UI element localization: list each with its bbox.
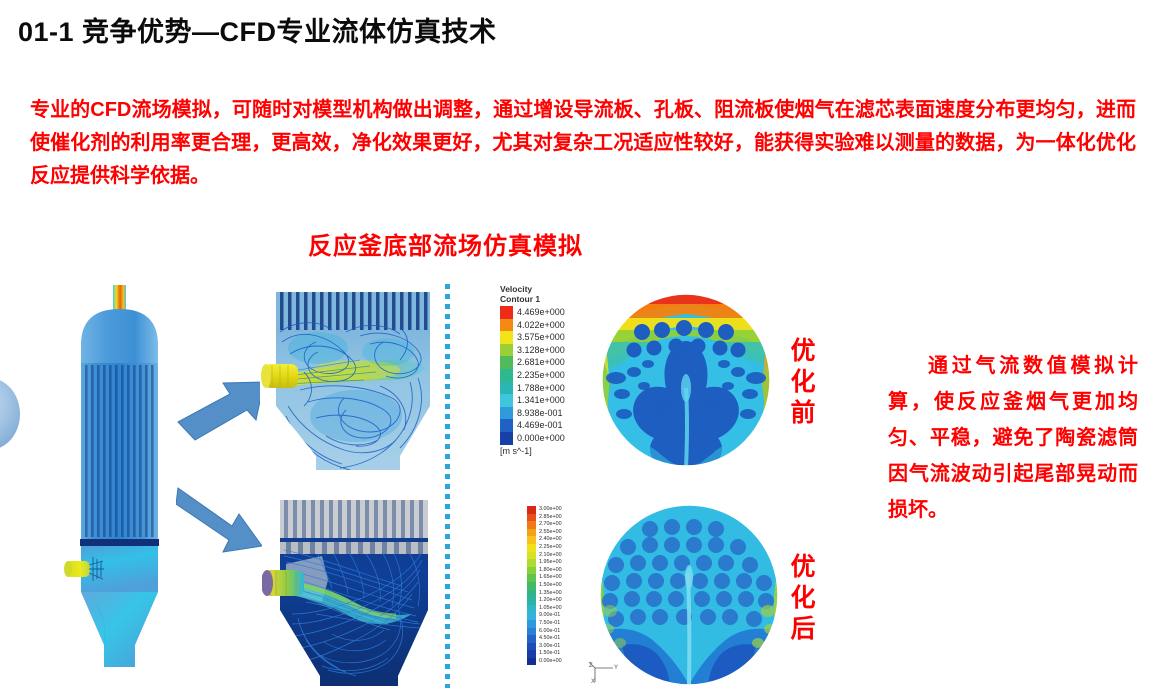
legend-value: 2.55e+00 bbox=[539, 529, 562, 537]
legend-value: 9.00e-01 bbox=[539, 612, 562, 620]
legend-swatch bbox=[500, 419, 513, 432]
legend-swatch bbox=[527, 544, 536, 552]
legend-swatch bbox=[527, 529, 536, 537]
legend-swatch bbox=[527, 582, 536, 590]
cross-section-contour-before bbox=[600, 292, 772, 468]
decorative-ellipse bbox=[0, 378, 20, 450]
legend-swatch bbox=[527, 658, 536, 666]
legend-value: 1.65e+00 bbox=[539, 574, 562, 582]
legend-value: 1.95e+00 bbox=[539, 559, 562, 567]
svg-text:X: X bbox=[591, 679, 595, 684]
legend-swatch bbox=[527, 612, 536, 620]
svg-text:Z: Z bbox=[589, 663, 593, 669]
legend-swatch bbox=[527, 536, 536, 544]
legend-value: 1.05e+00 bbox=[539, 605, 562, 613]
legend-swatch bbox=[500, 331, 513, 344]
legend-swatch bbox=[527, 650, 536, 658]
legend-value: 4.469e+000 bbox=[517, 306, 565, 319]
legend-value: 1.20e+00 bbox=[539, 597, 562, 605]
legend-swatch bbox=[527, 628, 536, 636]
stage-label-before: 优化前 bbox=[788, 336, 818, 429]
legend-swatch bbox=[500, 432, 513, 445]
legend-value: 1.50e-01 bbox=[539, 650, 562, 658]
legend-value: 7.50e-01 bbox=[539, 620, 562, 628]
arrow-down-right-icon bbox=[176, 478, 268, 554]
legend-swatch bbox=[527, 567, 536, 575]
legend-swatch bbox=[500, 382, 513, 395]
streamline-plot-before bbox=[260, 286, 448, 472]
legend-value: 1.35e+00 bbox=[539, 590, 562, 598]
legend-swatch bbox=[527, 574, 536, 582]
velocity-legend-after: 3.00e+002.85e+002.70e+002.55e+002.40e+00… bbox=[527, 506, 599, 665]
legend-swatch bbox=[527, 590, 536, 598]
legend-label-column: 3.00e+002.85e+002.70e+002.55e+002.40e+00… bbox=[539, 506, 562, 665]
legend-value: 2.681e+000 bbox=[517, 356, 565, 369]
legend-swatch bbox=[527, 559, 536, 567]
legend-value: 3.575e+000 bbox=[517, 331, 565, 344]
legend-swatch-column bbox=[527, 506, 536, 665]
legend-value: 6.00e-01 bbox=[539, 628, 562, 636]
legend-value: 2.70e+00 bbox=[539, 521, 562, 529]
legend-value: 8.938e-001 bbox=[517, 407, 565, 420]
legend-value: 1.50e+00 bbox=[539, 582, 562, 590]
legend-swatch bbox=[527, 605, 536, 613]
cross-section-contour-after bbox=[598, 503, 780, 687]
reactor-vessel-figure bbox=[63, 285, 183, 675]
section-subtitle: 反应釜底部流场仿真模拟 bbox=[308, 226, 583, 261]
panel-divider bbox=[445, 284, 450, 688]
legend-swatch bbox=[500, 344, 513, 357]
legend-swatch bbox=[500, 319, 513, 332]
legend-value: 1.341e+000 bbox=[517, 394, 565, 407]
legend-value: 3.128e+000 bbox=[517, 344, 565, 357]
intro-paragraph: 专业的CFD流场模拟，可随时对模型机构做出调整，通过增设导流板、孔板、阻流板使烟… bbox=[30, 94, 1136, 193]
slide-root: 01-1 竞争优势—CFD专业流体仿真技术 专业的CFD流场模拟，可随时对模型机… bbox=[0, 0, 1154, 697]
legend-swatch bbox=[527, 514, 536, 522]
legend-swatch bbox=[527, 643, 536, 651]
legend-title: Velocity Contour 1 bbox=[500, 285, 584, 304]
legend-swatch bbox=[527, 620, 536, 628]
legend-value: 4.469e-001 bbox=[517, 419, 565, 432]
conclusion-text: 通过气流数值模拟计算，使反应釜烟气更加均匀、平稳，避免了陶瓷滤筒因气流波动引起尾… bbox=[888, 348, 1138, 528]
legend-value: 4.50e-01 bbox=[539, 635, 562, 643]
legend-value: 2.85e+00 bbox=[539, 514, 562, 522]
legend-swatch bbox=[500, 394, 513, 407]
legend-value: 1.80e+00 bbox=[539, 567, 562, 575]
streamline-plot-after bbox=[262, 490, 450, 690]
stage-label-after: 优化后 bbox=[788, 552, 818, 645]
legend-value: 4.022e+000 bbox=[517, 319, 565, 332]
legend-value: 2.25e+00 bbox=[539, 544, 562, 552]
legend-swatch bbox=[527, 506, 536, 514]
legend-label-column: 4.469e+0004.022e+0003.575e+0003.128e+000… bbox=[517, 306, 565, 445]
legend-unit: [m s^-1] bbox=[500, 446, 584, 456]
legend-swatch bbox=[527, 552, 536, 560]
legend-swatch bbox=[500, 369, 513, 382]
legend-value: 2.40e+00 bbox=[539, 536, 562, 544]
title-divider bbox=[0, 60, 1154, 63]
legend-swatch bbox=[500, 356, 513, 369]
page-title: 01-1 竞争优势—CFD专业流体仿真技术 bbox=[18, 10, 497, 49]
legend-value: 0.00e+00 bbox=[539, 658, 562, 666]
legend-swatch bbox=[527, 521, 536, 529]
legend-swatch bbox=[527, 597, 536, 605]
legend-swatch-column bbox=[500, 306, 513, 445]
legend-value: 0.000e+000 bbox=[517, 432, 565, 445]
legend-value: 3.00e-01 bbox=[539, 643, 562, 651]
legend-value: 1.788e+000 bbox=[517, 382, 565, 395]
legend-swatch bbox=[500, 306, 513, 319]
legend-swatch bbox=[527, 635, 536, 643]
legend-value: 3.00e+00 bbox=[539, 506, 562, 514]
velocity-legend-before: Velocity Contour 1 4.469e+0004.022e+0003… bbox=[500, 285, 584, 456]
legend-value: 2.235e+000 bbox=[517, 369, 565, 382]
legend-value: 2.10e+00 bbox=[539, 552, 562, 560]
legend-swatch bbox=[500, 407, 513, 420]
arrow-up-right-icon bbox=[176, 378, 268, 444]
